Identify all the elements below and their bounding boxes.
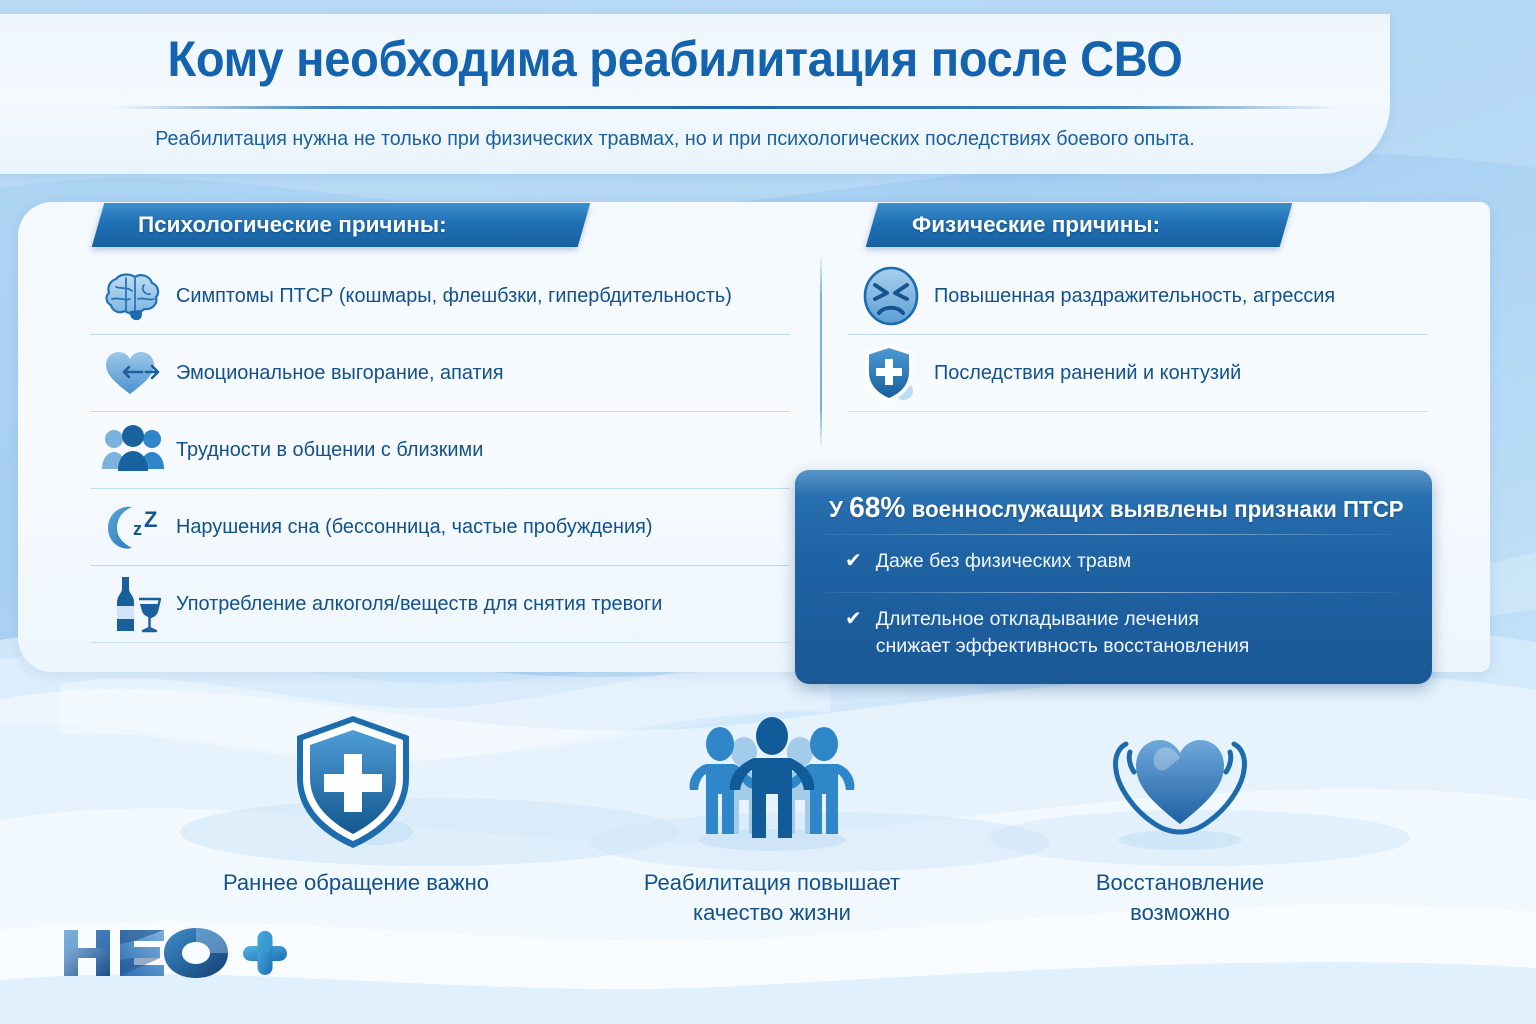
hands-heart-icon	[1000, 712, 1360, 854]
list-item-label: Нарушения сна (бессонница, частые пробуж…	[176, 515, 652, 539]
feature-caption: Раннее обращение важно	[176, 868, 536, 898]
title-divider	[110, 106, 1340, 109]
list-item-label: Повышенная раздражительность, агрессия	[934, 284, 1335, 308]
physical-causes-list: Повышенная раздражительность, агрессия П…	[848, 258, 1428, 412]
feature-caption: Реабилитация повышает качество жизни	[592, 868, 952, 928]
statistics-panel: У 68% военнослужащих выявлены признаки П…	[795, 470, 1432, 684]
heart-arrow-icon	[90, 338, 176, 408]
list-item: Последствия ранений и контузий	[848, 335, 1428, 412]
statistics-percent: 68%	[849, 492, 905, 524]
list-item-label: Трудности в общении с близкими	[176, 438, 483, 462]
statistics-point-label: Длительное откладывание лечения снижает …	[876, 606, 1250, 660]
physical-causes-banner: Физические причины:	[866, 203, 1293, 247]
physical-banner-label: Физические причины:	[872, 203, 1286, 247]
statistics-divider-1	[825, 534, 1395, 535]
page-title: Кому необходима реабилитация после СВО	[41, 30, 1310, 88]
feature-quality-of-life: Реабилитация повышает качество жизни	[592, 712, 952, 928]
list-item: z Z Нарушения сна (бессонница, частые пр…	[90, 489, 790, 566]
feature-caption: Восстановление возможно	[1000, 868, 1360, 928]
statistics-point-label: Даже без физических травм	[876, 548, 1131, 575]
psychological-causes-banner: Психологические причины:	[92, 203, 591, 247]
people-together-icon	[592, 712, 952, 854]
psychological-causes-list: Симптомы ПТСР (кошмары, флешбзки, гиперб…	[90, 258, 790, 643]
list-item-label: Эмоциональное выгорание, апатия	[176, 361, 503, 385]
brain-icon	[90, 261, 176, 331]
check-icon: ✔	[845, 548, 862, 574]
headline-suffix: военнослужащих выявлены признаки ПТСР	[905, 496, 1403, 522]
list-item: Трудности в общении с близкими	[90, 412, 790, 489]
svg-text:Z: Z	[144, 507, 157, 532]
feature-recovery-possible: Восстановление возможно	[1000, 712, 1360, 928]
list-item: Эмоциональное выгорание, апатия	[90, 335, 790, 412]
moon-sleep-icon: z Z	[90, 492, 176, 562]
shield-cross-icon	[848, 338, 934, 408]
statistics-point: ✔ Длительное откладывание лечения снижае…	[845, 606, 1249, 660]
column-divider	[820, 252, 822, 452]
list-item: Повышенная раздражительность, агрессия	[848, 258, 1428, 335]
feature-early-help: Раннее обращение важно	[176, 712, 536, 898]
svg-text:z: z	[133, 519, 142, 539]
statistics-headline: У 68% военнослужащих выявлены признаки П…	[829, 492, 1392, 525]
list-item: Употребление алкоголя/веществ для снятия…	[90, 566, 790, 643]
page-subtitle: Реабилитация нужна не только при физичес…	[27, 127, 1323, 151]
shield-cross-large-icon	[176, 712, 536, 854]
list-item-label: Последствия ранений и контузий	[934, 361, 1241, 385]
bottle-glass-icon	[90, 569, 176, 639]
header-panel: Кому необходима реабилитация после СВО Р…	[0, 14, 1390, 174]
people-group-icon	[90, 415, 176, 485]
list-item-label: Употребление алкоголя/веществ для снятия…	[176, 592, 662, 616]
angry-face-icon	[848, 261, 934, 331]
headline-prefix: У	[829, 496, 849, 522]
infographic-root: Кому необходима реабилитация после СВО Р…	[0, 0, 1536, 1024]
psychological-banner-label: Психологические причины:	[98, 203, 584, 247]
list-item: Симптомы ПТСР (кошмары, флешбзки, гиперб…	[90, 258, 790, 335]
statistics-point: ✔ Даже без физических травм	[845, 548, 1131, 575]
logo-neo-plus[interactable]	[58, 920, 288, 982]
check-icon: ✔	[845, 606, 862, 632]
statistics-divider-2	[825, 592, 1395, 593]
list-item-label: Симптомы ПТСР (кошмары, флешбзки, гиперб…	[176, 284, 732, 308]
